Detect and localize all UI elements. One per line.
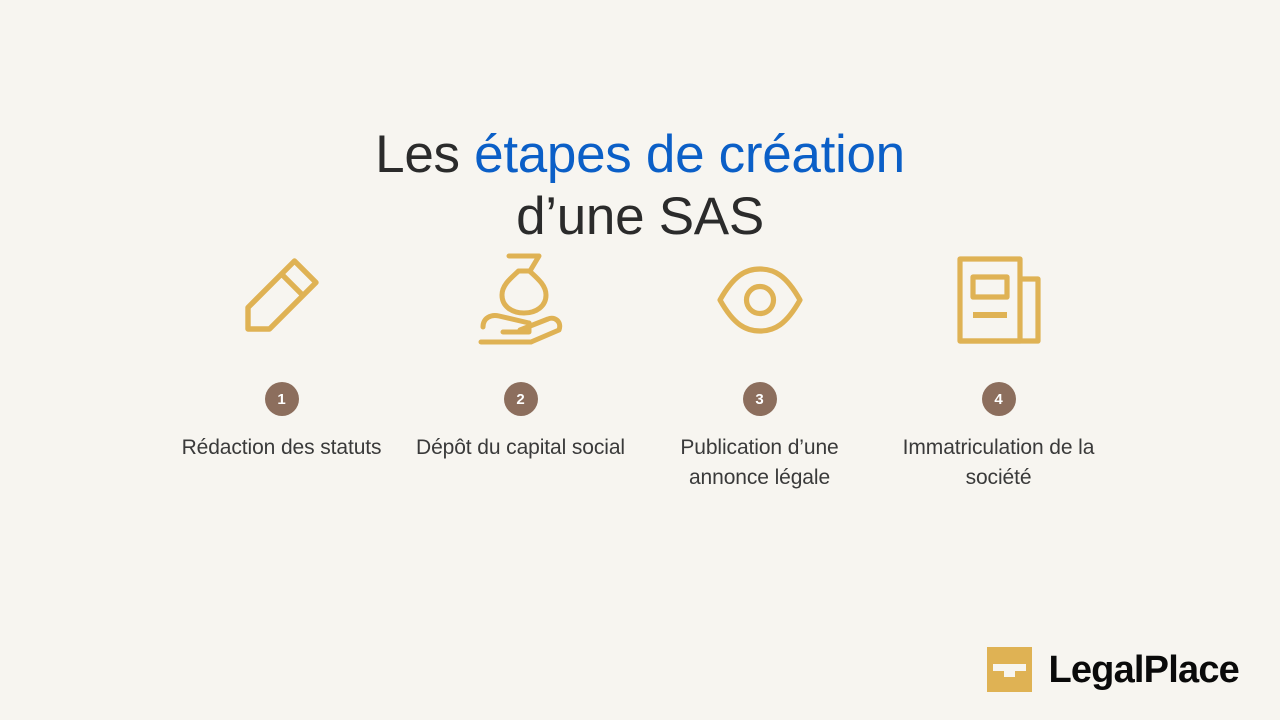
step-caption: Immatriculation de la société — [891, 433, 1106, 493]
step-item: 1 Rédaction des statuts — [162, 248, 401, 463]
brand-logo: LegalPlace — [987, 647, 1239, 692]
title-highlight: étapes de création — [474, 125, 905, 184]
step-caption: Dépôt du capital social — [416, 433, 625, 463]
step-item: 2 Dépôt du capital social — [401, 248, 640, 463]
brand-name: LegalPlace — [1048, 651, 1239, 689]
money-bag-on-hand-icon — [473, 248, 569, 352]
eye-icon — [716, 248, 804, 352]
step-number-badge: 2 — [504, 382, 538, 416]
step-item: 3 Publication d’une annonce légale — [640, 248, 879, 493]
step-caption: Publication d’une annonce légale — [652, 433, 867, 493]
legalplace-mark-icon — [987, 647, 1032, 692]
step-number-badge: 3 — [743, 382, 777, 416]
step-number-badge: 4 — [982, 382, 1016, 416]
title-tail: d’une SAS — [516, 187, 764, 246]
newspaper-icon — [955, 248, 1043, 352]
step-number-badge: 1 — [265, 382, 299, 416]
pencil-icon — [241, 248, 323, 352]
step-item: 4 Immatriculation de la société — [879, 248, 1118, 493]
steps-row: 1 Rédaction des statuts — [162, 248, 1118, 493]
page-title: Les étapes de création d’une SAS — [0, 124, 1280, 248]
infographic-slide: Les étapes de création d’une SAS 1 Rédac… — [0, 0, 1280, 720]
title-lead: Les — [375, 125, 474, 184]
step-caption: Rédaction des statuts — [182, 433, 382, 463]
